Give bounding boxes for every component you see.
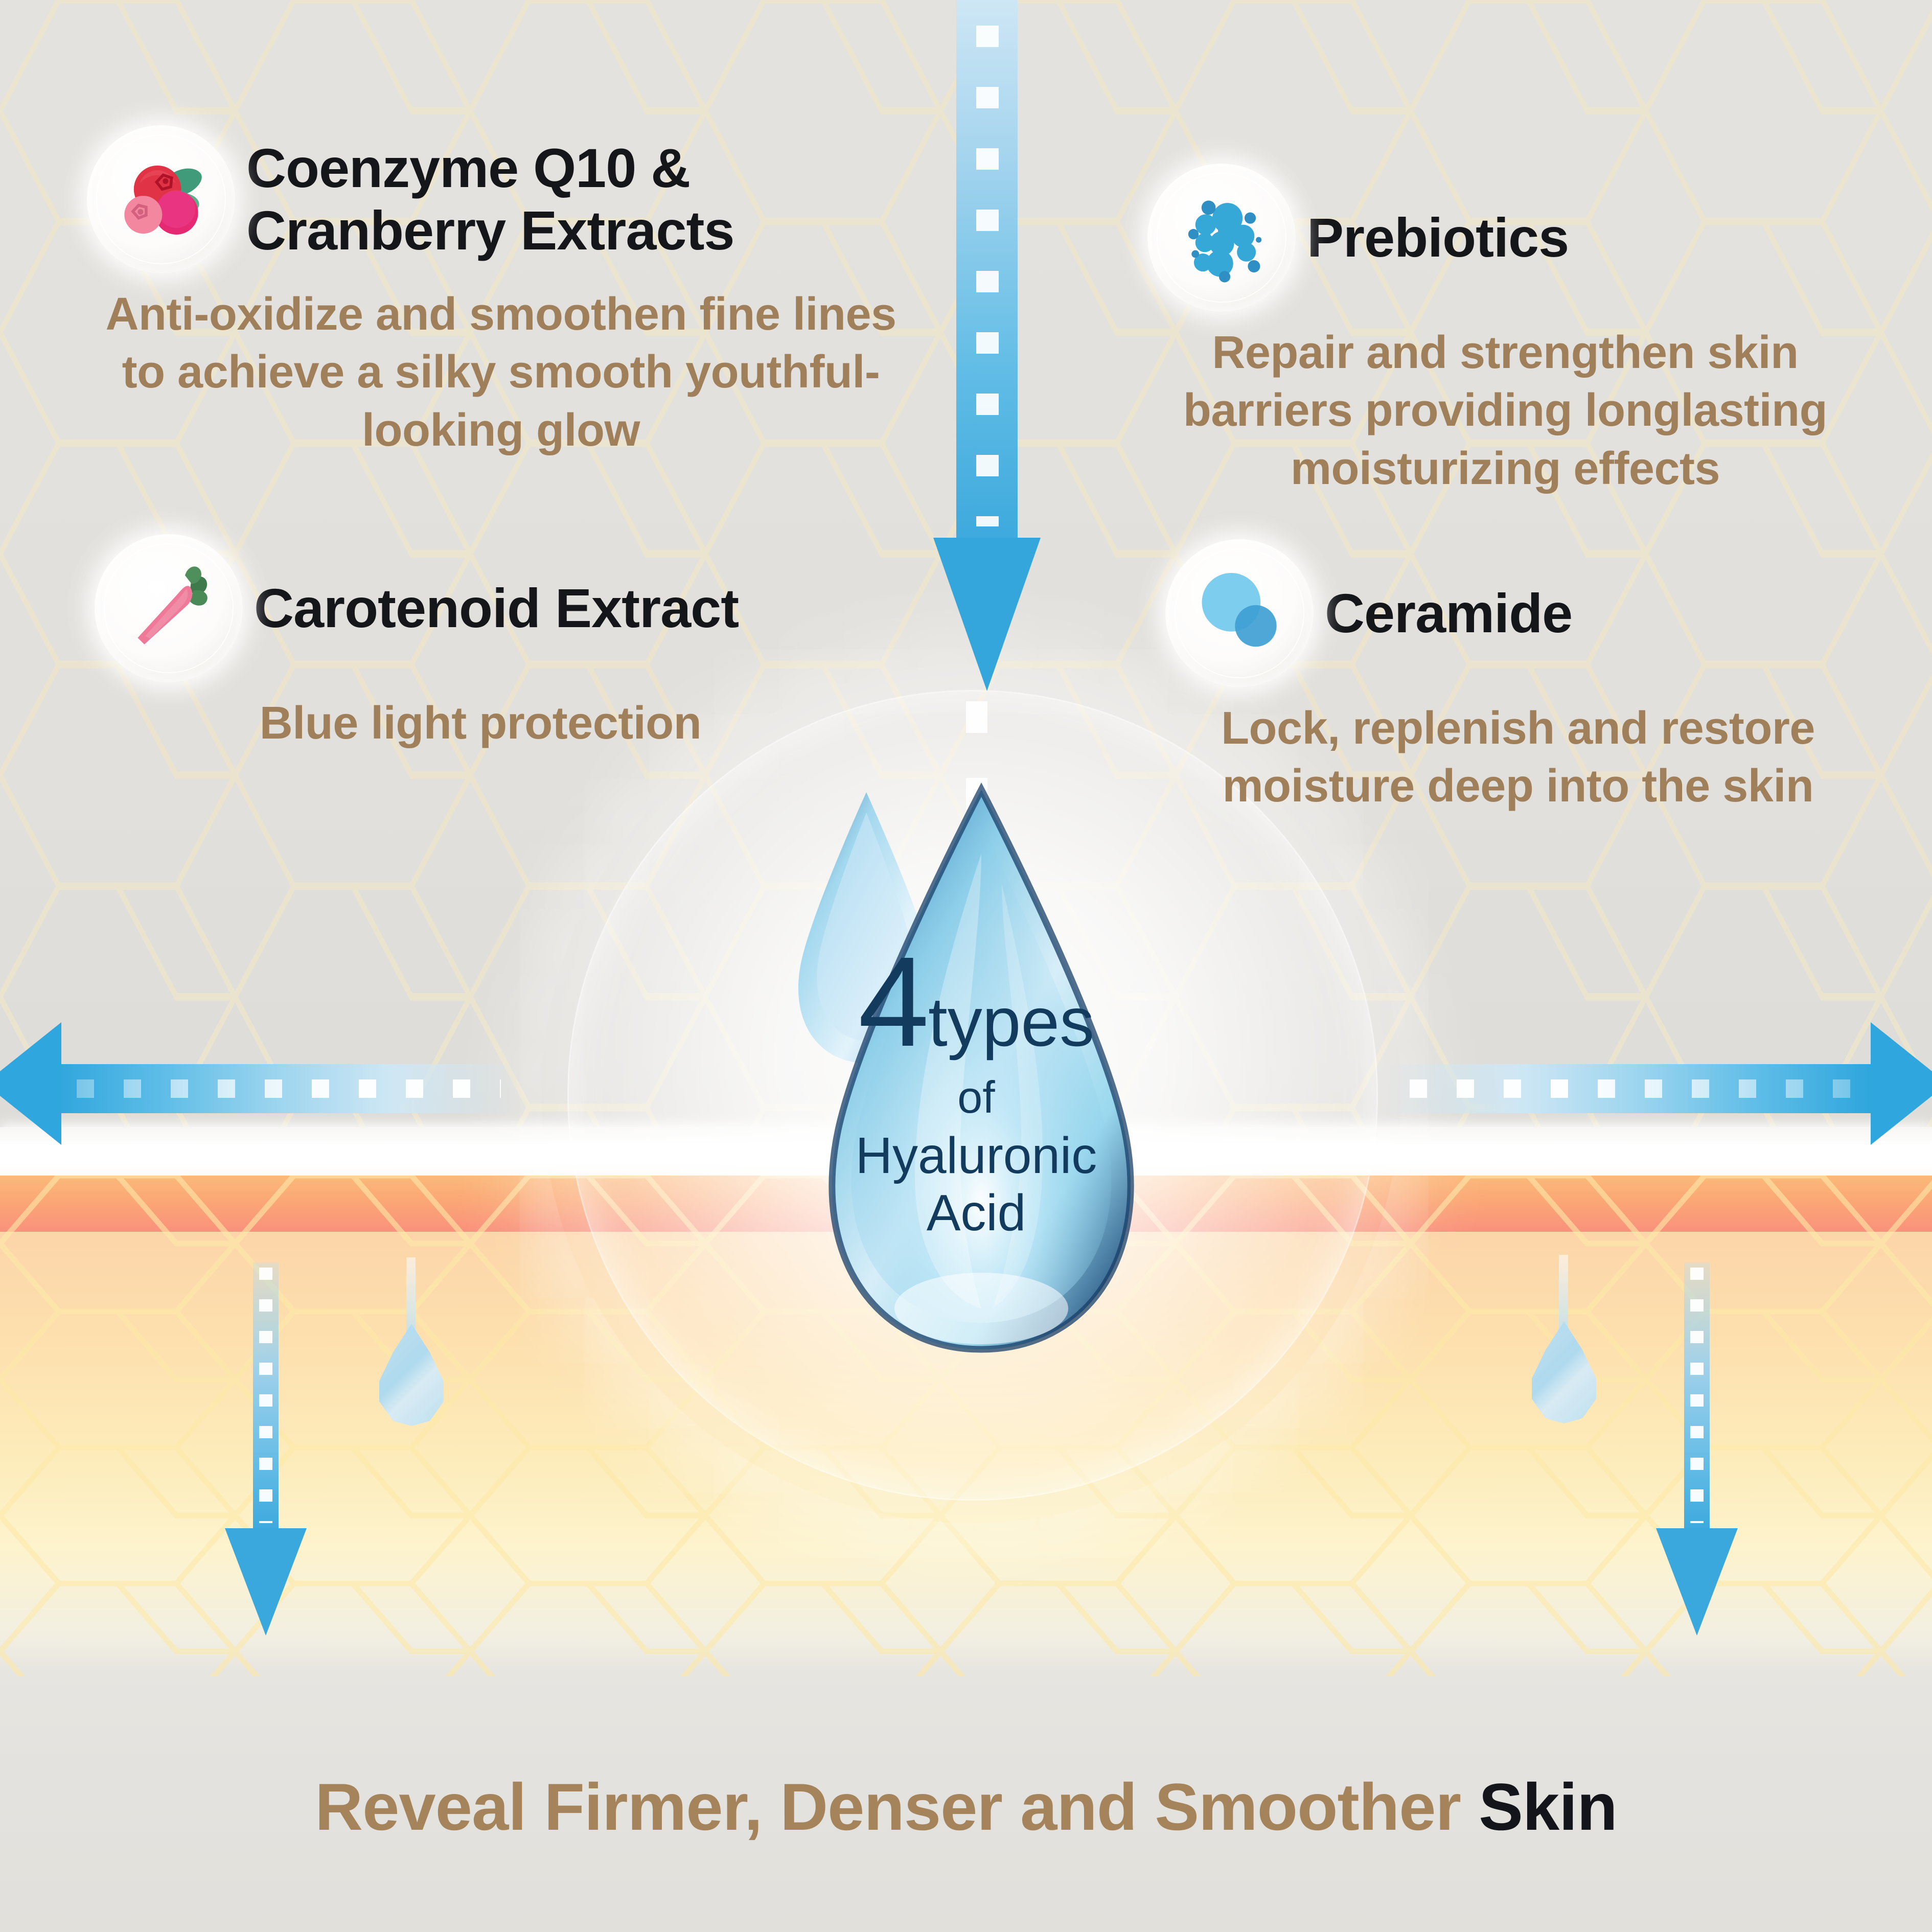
ingredient-prebiotics[interactable]: Prebiotics Repair and strengthen skin ba…	[1147, 164, 1863, 498]
arrow-head	[1656, 1528, 1738, 1636]
ingredient-header: Coenzyme Q10 & Cranberry Extracts	[87, 125, 946, 273]
bottom-tagline: Reveal Firmer, Denser and Smoother Skin	[0, 1774, 1932, 1840]
arrow-dashes	[1690, 1268, 1704, 1523]
tagline-dark-text: Skin	[1479, 1769, 1617, 1844]
downward-penetration-arrow	[938, 0, 1036, 700]
ingredient-title: Carotenoid Extract	[254, 577, 739, 639]
deep-penetration-arrow-left	[227, 1262, 304, 1651]
ingredient-header: Carotenoid Extract	[95, 534, 851, 682]
droplet-tail-left	[406, 1257, 416, 1334]
arrow-head	[225, 1528, 307, 1636]
ingredient-description: Lock, replenish and restore moisture dee…	[1165, 700, 1871, 816]
hyaluronic-acid-water-drop	[762, 777, 1186, 1380]
ingredient-ceramide[interactable]: Ceramide Lock, replenish and restore moi…	[1165, 539, 1871, 816]
ingredient-title: Prebiotics	[1307, 206, 1569, 269]
arrow-head	[1871, 1022, 1932, 1145]
ingredient-title: Ceramide	[1325, 582, 1572, 645]
arrow-dashes	[259, 1268, 272, 1523]
ingredient-description: Anti-oxidize and smoothen fine lines to …	[87, 286, 915, 459]
ingredient-coenzyme-q10-cranberry[interactable]: Coenzyme Q10 & Cranberry Extracts Anti-o…	[87, 125, 946, 459]
ingredient-description: Blue light protection	[115, 695, 846, 752]
ingredient-title-line-2: Cranberry Extracts	[246, 199, 734, 262]
ingredient-title-line-1: Coenzyme Q10 &	[246, 137, 734, 199]
spread-left-arrow	[0, 1032, 521, 1145]
spread-right-arrow	[1380, 1032, 1932, 1145]
ingredient-header: Prebiotics	[1147, 164, 1863, 312]
two-circles-icon	[1165, 539, 1314, 687]
tagline-brown-text: Reveal Firmer, Denser and Smoother	[315, 1769, 1461, 1844]
arrow-dashes	[1400, 1079, 1850, 1098]
arrow-head	[0, 1022, 61, 1145]
droplet-tail-right	[1559, 1255, 1568, 1331]
ingredient-description: Repair and strengthen skin barriers prov…	[1147, 324, 1863, 498]
ingredient-carotenoid-extract[interactable]: Carotenoid Extract Blue light protection	[95, 534, 851, 752]
infographic-canvas: 4 types of Hyaluronic Acid	[0, 0, 1932, 1932]
microbe-icon	[1147, 164, 1296, 312]
arrow-dashes	[77, 1079, 501, 1098]
ingredient-header: Ceramide	[1165, 539, 1871, 687]
deep-penetration-arrow-right	[1659, 1262, 1735, 1651]
arrow-dashes	[976, 26, 999, 526]
carrot-icon	[95, 534, 243, 682]
cranberry-icon	[87, 125, 235, 273]
arrow-head	[933, 538, 1041, 691]
ingredient-title: Coenzyme Q10 & Cranberry Extracts	[246, 137, 734, 262]
